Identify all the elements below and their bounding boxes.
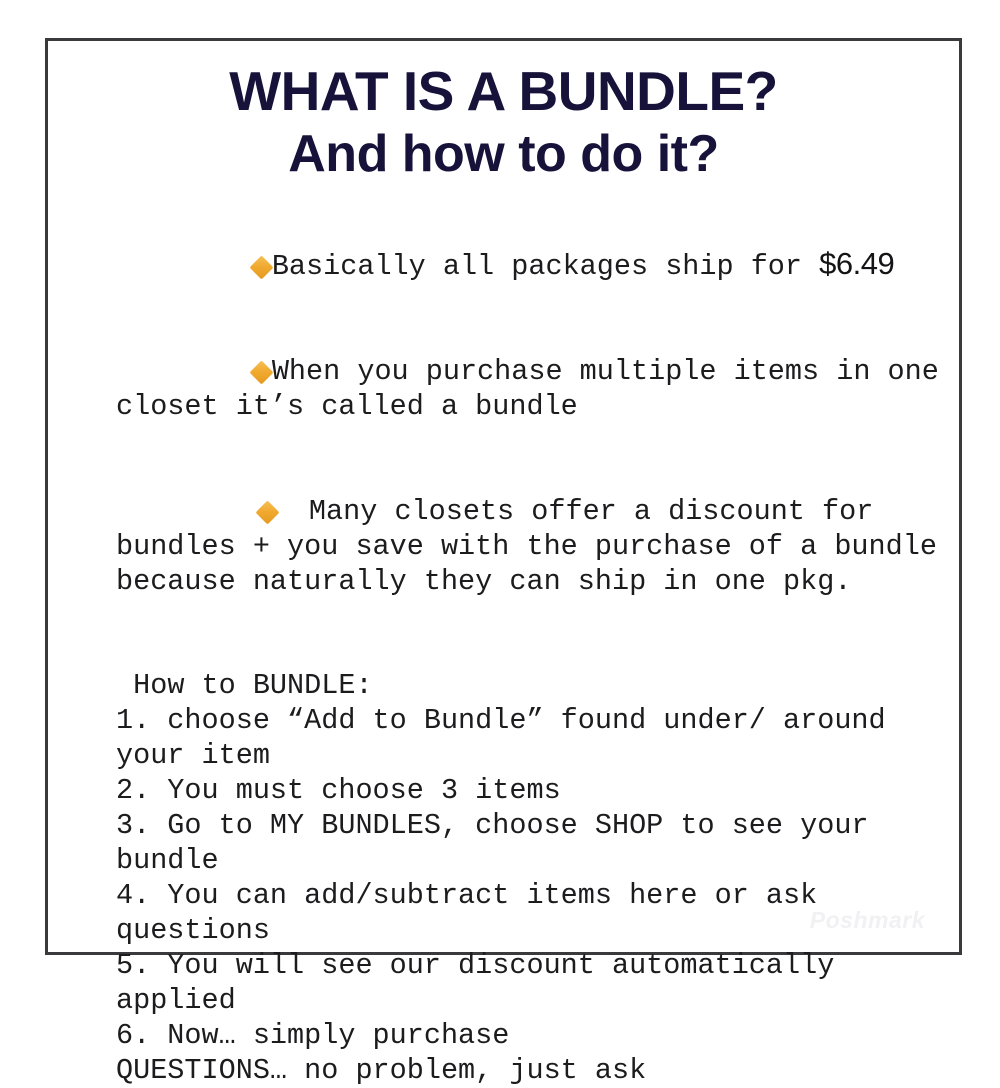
infographic-canvas: WHAT IS A BUNDLE? And how to do it? Basi… [0,0,1000,1000]
title-line-2: And how to do it? [48,123,959,185]
diamond-bullet-icon [255,500,279,524]
content-frame: WHAT IS A BUNDLE? And how to do it? Basi… [45,38,962,955]
title-line-1: WHAT IS A BUNDLE? [48,59,959,123]
page-title: WHAT IS A BUNDLE? And how to do it? [48,59,959,185]
howto-step-3: 3. Go to MY BUNDLES, choose SHOP to see … [116,808,939,878]
bullet-3-text: Many closets offer a discount for bundle… [116,495,954,598]
closing-line: QUESTIONS… no problem, just ask [116,1053,939,1088]
diamond-bullet-icon [249,255,273,279]
howto-step-2: 2. You must choose 3 items [116,773,939,808]
bullet-1-text: Basically all packages ship for [272,250,819,283]
bullet-item-3: Many closets offer a discount for bundle… [116,459,939,634]
howto-step-6: 6. Now… simply purchase [116,1018,939,1053]
bullet-item-2: When you purchase multiple items in one … [116,319,939,459]
watermark: Poshmark [810,907,925,934]
section-spacer [116,634,939,668]
bullet-2-text: When you purchase multiple items in one … [116,355,956,423]
howto-step-5: 5. You will see our discount automatical… [116,948,939,1018]
howto-step-1: 1. choose “Add to Bundle” found under/ a… [116,703,939,773]
shipping-price: $6.49 [819,246,894,281]
body-content: Basically all packages ship for $6.49 Wh… [116,211,939,1088]
bullet-item-1: Basically all packages ship for $6.49 [116,211,939,319]
diamond-bullet-icon [249,360,273,384]
howto-heading: How to BUNDLE: [116,668,939,703]
